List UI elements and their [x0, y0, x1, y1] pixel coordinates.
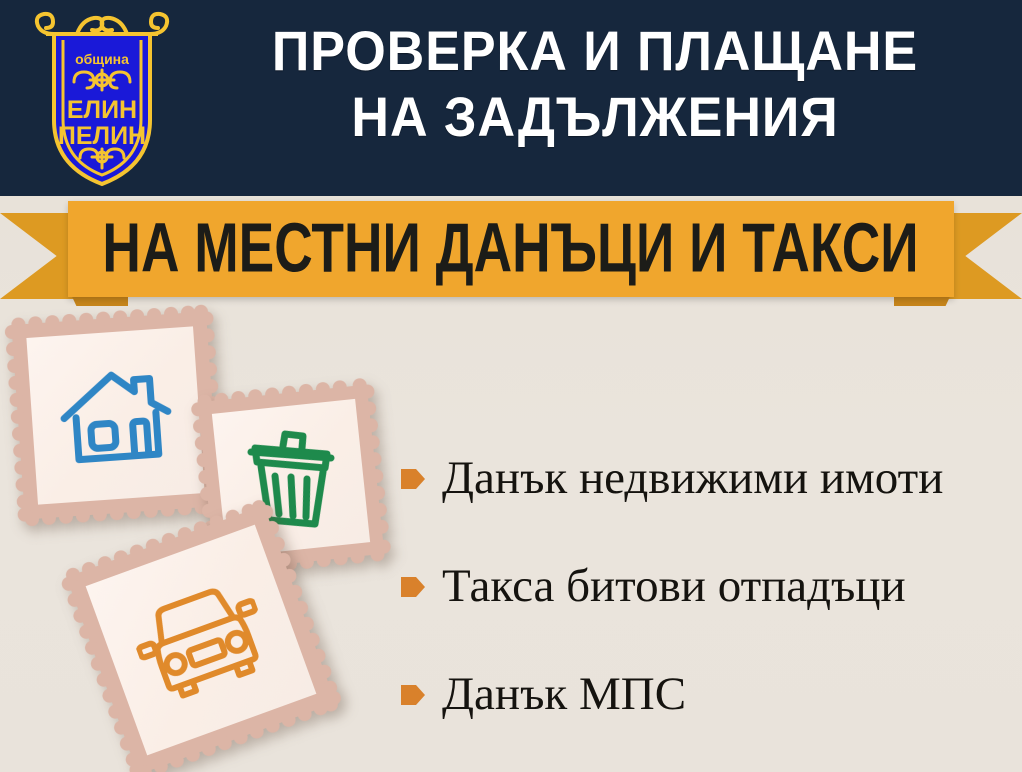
list-item[interactable]: Такса битови отпадъци — [400, 532, 1020, 640]
list-item-label: Такса битови отпадъци — [442, 560, 906, 612]
header-title-block: ПРОВЕРКА И ПЛАЩАНЕ НА ЗАДЪЛЖЕНИЯ — [190, 18, 1000, 150]
crest-label-top: община — [75, 51, 129, 67]
ribbon-label: НА МЕСТНИ ДАНЪЦИ И ТАКСИ — [103, 214, 919, 283]
list-item-label: Данък недвижими имоти — [442, 452, 943, 504]
arrow-pentagon-bullet-icon — [400, 464, 426, 494]
page-title-line-2: НА ЗАДЪЛЖЕНИЯ — [218, 84, 971, 150]
list-item[interactable]: Данък недвижими имоти — [400, 424, 1020, 532]
car-icon — [124, 571, 278, 709]
list-item[interactable]: Данък МПС — [400, 640, 1020, 748]
house-icon-wrap — [11, 311, 219, 519]
crest-logo: община ЕЛИН ПЕЛИН — [22, 8, 182, 190]
crest-label-line2: ПЕЛИН — [58, 122, 146, 150]
arrow-pentagon-bullet-icon — [400, 572, 426, 602]
stamp-card-property — [11, 311, 219, 519]
ribbon-banner: НА МЕСТНИ ДАНЪЦИ И ТАКСИ — [68, 201, 954, 297]
header-bar: община ЕЛИН ПЕЛИН — [0, 0, 1022, 196]
house-icon — [52, 356, 179, 474]
crest-label-line1: ЕЛИН — [67, 96, 137, 124]
poster-root: община ЕЛИН ПЕЛИН — [0, 0, 1022, 772]
tax-type-list: Данък недвижими имоти Такса битови отпад… — [400, 424, 1020, 748]
subtitle-ribbon: НА МЕСТНИ ДАНЪЦИ И ТАКСИ — [0, 196, 1022, 316]
page-title-line-1: ПРОВЕРКА И ПЛАЩАНЕ — [218, 18, 971, 84]
arrow-pentagon-bullet-icon — [400, 680, 426, 710]
coat-of-arms-icon: община ЕЛИН ПЕЛИН — [22, 8, 182, 190]
list-item-label: Данък МПС — [442, 668, 686, 720]
